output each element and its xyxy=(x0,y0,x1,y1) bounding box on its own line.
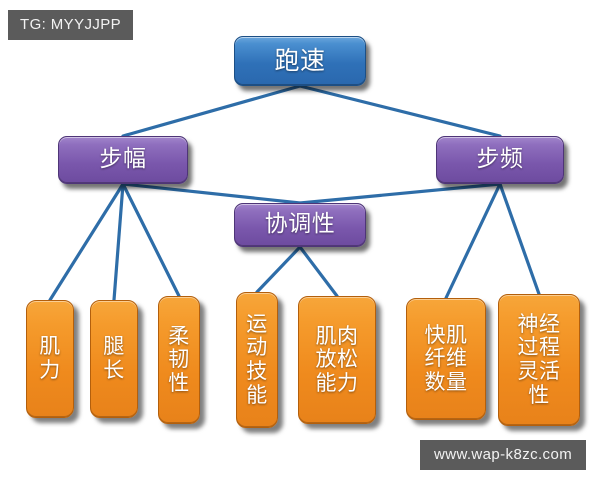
edge-root-to-cadence xyxy=(300,86,500,136)
node-label: 步频 xyxy=(477,148,524,171)
node-cadence[interactable]: 步频 xyxy=(436,136,564,184)
node-stride[interactable]: 步幅 xyxy=(58,136,188,184)
node-label: 跑速 xyxy=(274,48,325,74)
edge-coordination-to-motor-skill xyxy=(257,247,300,292)
node-label: 神经 过程 灵活 性 xyxy=(518,313,561,407)
node-label: 肌 力 xyxy=(39,335,61,382)
node-label: 运 动 技 能 xyxy=(246,313,268,407)
node-muscle-relax[interactable]: 肌肉 放松 能力 xyxy=(298,296,376,424)
edge-stride-to-muscle-strength xyxy=(50,184,123,300)
node-label: 协调性 xyxy=(265,213,336,236)
edge-stride-to-leg-length xyxy=(114,184,123,300)
node-motor-skill[interactable]: 运 动 技 能 xyxy=(236,292,278,428)
edge-root-to-stride xyxy=(123,86,300,136)
node-label: 快肌 纤维 数量 xyxy=(425,324,468,395)
edge-cadence-to-coordination xyxy=(300,184,500,203)
edge-cadence-to-fast-twitch xyxy=(446,184,500,298)
tg-tag-badge: TG: MYYJJPP xyxy=(8,10,133,40)
node-label: 柔 韧 性 xyxy=(168,325,190,396)
node-coordination[interactable]: 协调性 xyxy=(234,203,366,247)
node-label: 腿 长 xyxy=(103,335,125,382)
edge-coordination-to-muscle-relax xyxy=(300,247,337,296)
diagram-canvas: 跑速步幅步频协调性肌 力腿 长柔 韧 性运 动 技 能肌肉 放松 能力快肌 纤维… xyxy=(0,0,600,480)
edge-stride-to-coordination xyxy=(123,184,300,203)
node-root[interactable]: 跑速 xyxy=(234,36,366,86)
node-fast-twitch[interactable]: 快肌 纤维 数量 xyxy=(406,298,486,420)
node-label: 肌肉 放松 能力 xyxy=(316,325,359,396)
watermark-badge: www.wap-k8zc.com xyxy=(420,440,586,470)
node-flexibility[interactable]: 柔 韧 性 xyxy=(158,296,200,424)
node-leg-length[interactable]: 腿 长 xyxy=(90,300,138,418)
edge-stride-to-flexibility xyxy=(123,184,179,296)
node-label: 步幅 xyxy=(100,148,147,171)
node-neural-agility[interactable]: 神经 过程 灵活 性 xyxy=(498,294,580,426)
node-muscle-strength[interactable]: 肌 力 xyxy=(26,300,74,418)
edge-cadence-to-neural-agility xyxy=(500,184,539,294)
